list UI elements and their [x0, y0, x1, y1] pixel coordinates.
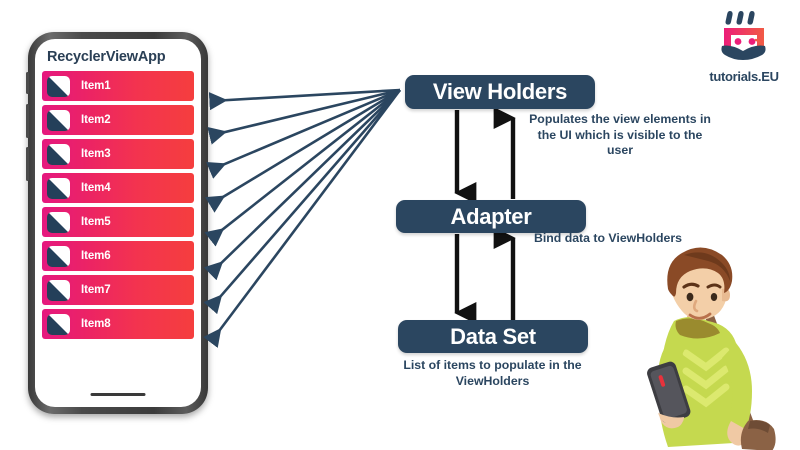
list-item-thumbnail-icon [47, 144, 70, 165]
list-item-thumbnail-icon [47, 178, 70, 199]
list-item-label: Item4 [81, 182, 111, 194]
arrow-viewholder-to-item [212, 90, 400, 101]
node-view-holders[interactable]: View Holders [405, 75, 595, 109]
list-item-thumbnail-icon [47, 212, 70, 233]
tutorials-eu-logo-icon [713, 10, 775, 62]
list-item[interactable]: Item6 [42, 241, 194, 271]
phone-volume-down-button[interactable] [26, 147, 29, 181]
list-item[interactable]: Item3 [42, 139, 194, 169]
list-item-label: Item8 [81, 318, 111, 330]
list-item-label: Item3 [81, 148, 111, 160]
list-item[interactable]: Item7 [42, 275, 194, 305]
list-item-label: Item7 [81, 284, 111, 296]
person-illustration [628, 245, 800, 450]
arrow-viewholder-to-item [212, 90, 400, 272]
annotation-dataset-description: List of items to populate in the ViewHol… [390, 358, 595, 389]
arrow-viewholder-to-item [212, 90, 400, 306]
list-item-thumbnail-icon [47, 76, 70, 97]
brand-logo[interactable]: tutorials.EU [700, 10, 788, 84]
list-item[interactable]: Item1 [42, 71, 194, 101]
list-item-thumbnail-icon [47, 280, 70, 301]
app-title: RecyclerViewApp [35, 39, 201, 71]
list-item[interactable]: Item5 [42, 207, 194, 237]
recyclerview-list[interactable]: Item1Item2Item3Item4Item5Item6Item7Item8 [35, 71, 201, 339]
phone-mockup: RecyclerViewApp Item1Item2Item3Item4Item… [28, 32, 208, 414]
arrow-viewholder-to-item [212, 90, 400, 340]
arrow-viewholder-to-item [212, 90, 400, 135]
home-indicator [91, 393, 146, 396]
list-item-label: Item2 [81, 114, 111, 126]
list-item-thumbnail-icon [47, 246, 70, 267]
node-adapter[interactable]: Adapter [396, 200, 586, 233]
diagram-canvas: RecyclerViewApp Item1Item2Item3Item4Item… [0, 0, 800, 450]
annotation-populates-view: Populates the view elements in the UI wh… [525, 112, 715, 159]
list-item-label: Item5 [81, 216, 111, 228]
node-data-set[interactable]: Data Set [398, 320, 588, 353]
phone-screen: RecyclerViewApp Item1Item2Item3Item4Item… [35, 39, 201, 407]
arrow-viewholder-to-item [212, 90, 400, 169]
list-item[interactable]: Item2 [42, 105, 194, 135]
logo-text: tutorials.EU [700, 69, 788, 84]
phone-volume-up-button[interactable] [26, 104, 29, 138]
arrow-viewholder-to-item [212, 90, 400, 204]
list-item-label: Item6 [81, 250, 111, 262]
list-item-thumbnail-icon [47, 110, 70, 131]
list-item[interactable]: Item4 [42, 173, 194, 203]
list-item-thumbnail-icon [47, 314, 70, 335]
list-item-label: Item1 [81, 80, 111, 92]
list-item[interactable]: Item8 [42, 309, 194, 339]
arrow-viewholder-to-item [212, 90, 400, 238]
phone-mute-switch[interactable] [26, 72, 29, 94]
